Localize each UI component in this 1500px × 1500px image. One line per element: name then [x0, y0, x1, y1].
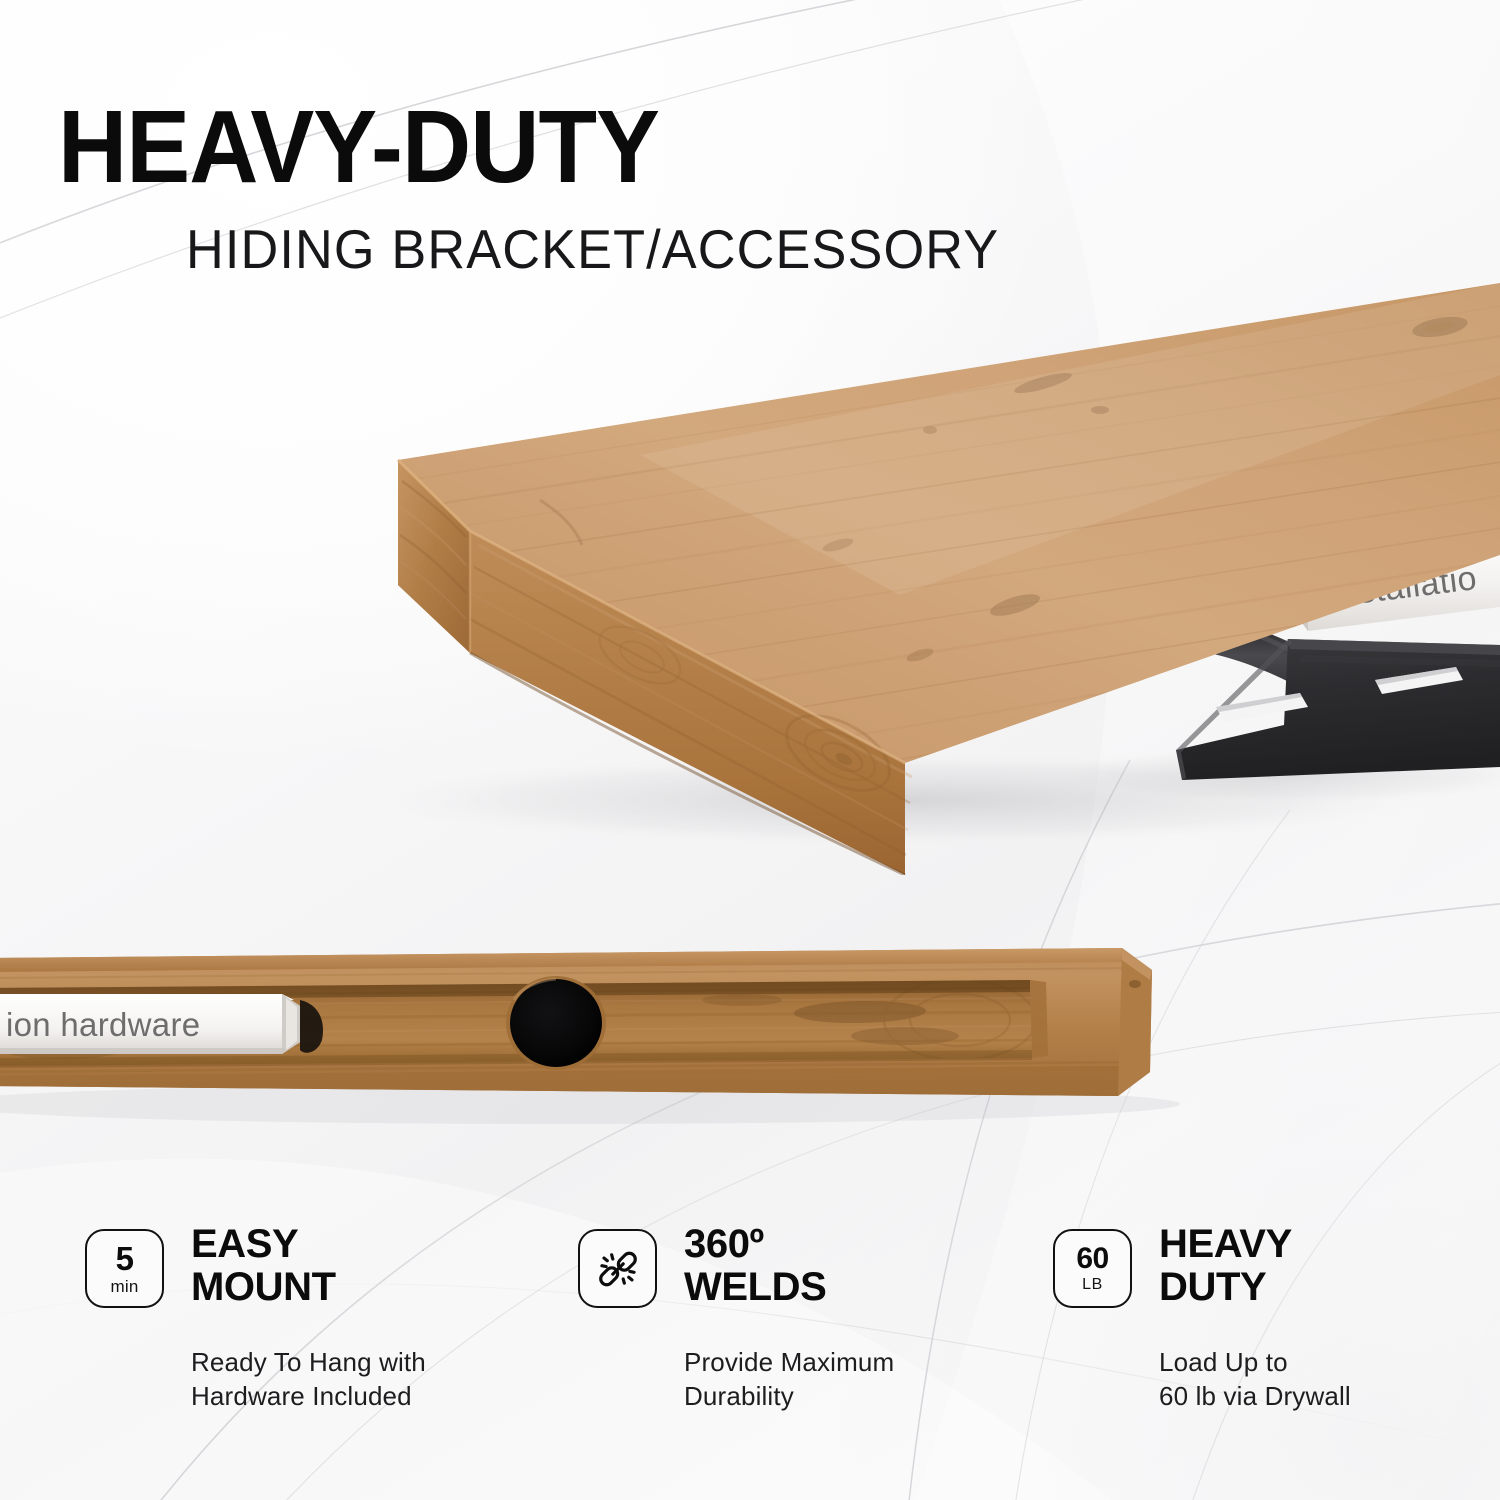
feature-360-welds: 360º WELDS Provide Maximum Durability — [578, 1228, 1048, 1428]
feature-title: HEAVY DUTY — [1159, 1223, 1292, 1309]
feature-heavy-duty: 60 LB HEAVY DUTY Load Up to 60 lb via Dr… — [1053, 1228, 1500, 1428]
installation-hardware-label-text-bottom: ion hardware — [6, 1006, 200, 1043]
bracket-mounting-plate — [1176, 639, 1500, 780]
installation-hardware-label-bottom: ion hardware — [0, 994, 323, 1054]
shelf-bracket-illustration: Installatio — [0, 255, 1500, 875]
feature-header: 5 min EASY MOUNT — [85, 1228, 555, 1336]
sixty-pound-badge: 60 LB — [1053, 1229, 1132, 1308]
feature-highlights-strip: 5 min EASY MOUNT Ready To Hang with Hard… — [0, 1228, 1500, 1428]
badge-unit: min — [111, 1278, 139, 1295]
product-photo-shelf-underside-channel: ion hardware — [0, 900, 1500, 1160]
page-subtitle: HIDING BRACKET/ACCESSORY — [186, 222, 999, 277]
badge-number: 60 — [1076, 1244, 1108, 1274]
chain-link-weld-icon — [595, 1246, 641, 1292]
five-minute-badge: 5 min — [85, 1229, 164, 1308]
chain-link-weld-badge — [578, 1229, 657, 1308]
page-title: HEAVY-DUTY — [58, 95, 659, 198]
feature-header: 360º WELDS — [578, 1228, 1048, 1336]
badge-unit: LB — [1082, 1277, 1103, 1293]
feature-title: EASY MOUNT — [191, 1223, 336, 1309]
shelf-channel-illustration: ion hardware — [0, 900, 1500, 1160]
badge-number: 5 — [116, 1242, 134, 1275]
feature-description: Load Up to 60 lb via Drywall — [1159, 1346, 1351, 1414]
product-infographic-canvas: HEAVY-DUTY HIDING BRACKET/ACCESSORY — [0, 0, 1500, 1500]
rod-mounting-hole — [506, 976, 606, 1070]
feature-title: 360º WELDS — [684, 1223, 826, 1309]
feature-description: Provide Maximum Durability — [684, 1346, 894, 1414]
product-photo-shelf-with-bracket: Installatio — [0, 255, 1500, 875]
feature-description: Ready To Hang with Hardware Included — [191, 1346, 426, 1414]
feature-easy-mount: 5 min EASY MOUNT Ready To Hang with Hard… — [85, 1228, 555, 1428]
feature-header: 60 LB HEAVY DUTY — [1053, 1228, 1500, 1336]
